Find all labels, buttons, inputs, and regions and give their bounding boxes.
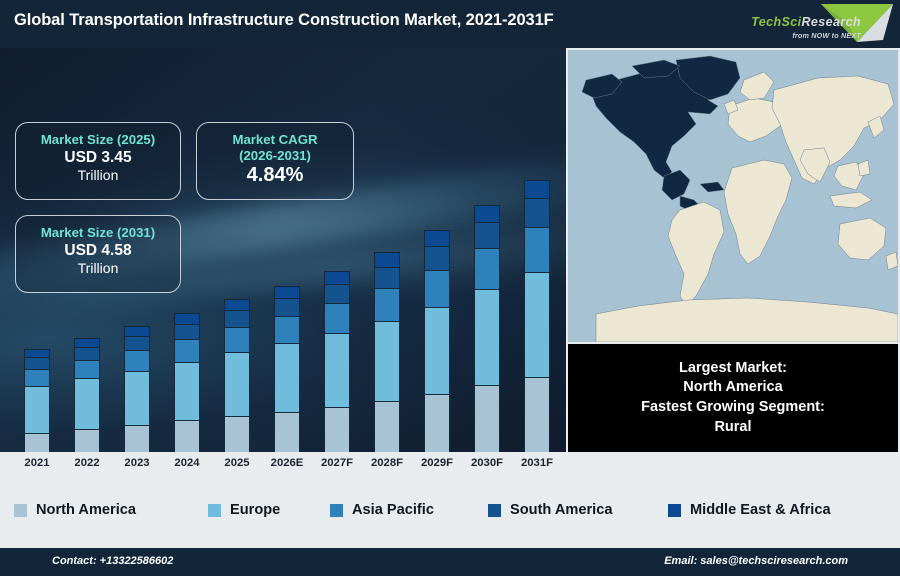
- stat-unit: Trillion: [16, 260, 180, 278]
- bar-segment-north-america: [374, 401, 400, 452]
- bar-column-2028f: [362, 96, 412, 452]
- bar-segment-south-america: [74, 347, 100, 360]
- logo-brand-primary: TechSci: [751, 15, 801, 29]
- logo-tagline: from NOW to NEXT: [751, 32, 861, 39]
- stacked-bar: [74, 338, 100, 452]
- legend-item-asia-pacific[interactable]: Asia Pacific: [330, 502, 434, 518]
- axis-label-2023: 2023: [112, 457, 162, 469]
- stat-label-line2: (2026-2031): [197, 148, 353, 164]
- chart-x-axis: 202120222023202420252026E2027F2028F2029F…: [0, 452, 566, 480]
- largest-market-value: North America: [683, 378, 782, 398]
- fastest-segment-value: Rural: [714, 418, 751, 438]
- stat-unit: Trillion: [16, 167, 180, 185]
- bar-segment-asia-pacific: [424, 270, 450, 307]
- bar-column-2031f: [512, 96, 562, 452]
- bar-segment-south-america: [124, 336, 150, 350]
- stat-label: Market Size (2025): [16, 132, 180, 148]
- logo-wordmark: TechSciResearch from NOW to NEXT: [751, 14, 861, 39]
- bar-column-2029f: [412, 96, 462, 452]
- axis-label-2022: 2022: [62, 457, 112, 469]
- stat-card-market-size-2025: Market Size (2025) USD 3.45 Trillion: [15, 122, 181, 200]
- stacked-bar: [124, 326, 150, 452]
- bar-segment-south-america: [224, 310, 250, 327]
- stat-card-market-size-2031: Market Size (2031) USD 4.58 Trillion: [15, 215, 181, 293]
- legend-item-europe[interactable]: Europe: [208, 502, 280, 518]
- bar-segment-asia-pacific: [24, 369, 50, 386]
- bar-segment-south-america: [524, 198, 550, 227]
- bar-segment-europe: [474, 289, 500, 385]
- bar-segment-asia-pacific: [274, 316, 300, 343]
- bar-segment-asia-pacific: [524, 227, 550, 272]
- header-bar: Global Transportation Infrastructure Con…: [0, 0, 900, 48]
- bar-segment-middle-east-africa: [324, 271, 350, 284]
- axis-label-2021: 2021: [12, 457, 62, 469]
- bar-segment-south-america: [324, 284, 350, 304]
- bar-segment-europe: [224, 352, 250, 415]
- bar-segment-europe: [274, 343, 300, 411]
- bar-segment-europe: [374, 321, 400, 401]
- chart-legend: North AmericaEuropeAsia PacificSouth Ame…: [0, 480, 900, 546]
- bar-segment-south-america: [474, 222, 500, 249]
- legend-swatch: [668, 504, 681, 517]
- stacked-bar: [524, 180, 550, 452]
- stat-value: USD 3.45: [16, 148, 180, 168]
- bar-segment-europe: [124, 371, 150, 425]
- stat-label: Market Size (2031): [16, 225, 180, 241]
- legend-label: Middle East & Africa: [690, 502, 831, 518]
- axis-label-2025: 2025: [212, 457, 262, 469]
- legend-item-south-america[interactable]: South America: [488, 502, 612, 518]
- bar-segment-south-america: [174, 324, 200, 340]
- bar-segment-asia-pacific: [474, 248, 500, 289]
- bar-segment-europe: [74, 378, 100, 429]
- footer-bar: Contact: +13322586602 Email: sales@techs…: [0, 548, 900, 576]
- stacked-bar: [424, 230, 450, 452]
- stacked-bar: [374, 252, 400, 452]
- legend-swatch: [330, 504, 343, 517]
- stacked-bar: [274, 286, 300, 452]
- bar-segment-asia-pacific: [174, 339, 200, 361]
- bar-segment-europe: [174, 362, 200, 421]
- bar-segment-north-america: [174, 420, 200, 452]
- bar-segment-asia-pacific: [74, 360, 100, 378]
- bar-segment-middle-east-africa: [174, 313, 200, 323]
- chart-panel: Market Size (2025) USD 3.45 Trillion Mar…: [0, 48, 566, 452]
- bar-segment-north-america: [24, 433, 50, 452]
- bar-segment-north-america: [474, 385, 500, 452]
- bar-segment-middle-east-africa: [474, 205, 500, 222]
- legend-swatch: [208, 504, 221, 517]
- bar-segment-south-america: [24, 357, 50, 369]
- largest-market-label: Largest Market:: [679, 359, 787, 379]
- legend-label: South America: [510, 502, 612, 518]
- techsci-logo: TechSciResearch from NOW to NEXT: [715, 1, 897, 45]
- bar-segment-europe: [24, 386, 50, 434]
- infographic-page: Global Transportation Infrastructure Con…: [0, 0, 900, 576]
- bar-segment-asia-pacific: [324, 303, 350, 333]
- stat-value: USD 4.58: [16, 241, 180, 261]
- bar-segment-middle-east-africa: [424, 230, 450, 246]
- bar-segment-middle-east-africa: [524, 180, 550, 198]
- legend-swatch: [488, 504, 501, 517]
- email-text: Email: sales@techsciresearch.com: [664, 555, 848, 567]
- bar-segment-south-america: [374, 267, 400, 289]
- bar-segment-north-america: [74, 429, 100, 452]
- contact-text: Contact: +13322586602: [52, 555, 173, 567]
- legend-swatch: [14, 504, 27, 517]
- bar-segment-middle-east-africa: [24, 349, 50, 357]
- legend-item-north-america[interactable]: North America: [14, 502, 136, 518]
- bar-segment-asia-pacific: [374, 288, 400, 321]
- stacked-bar: [324, 271, 350, 452]
- key-insights-box: Largest Market: North America Fastest Gr…: [568, 344, 898, 452]
- axis-label-2024: 2024: [162, 457, 212, 469]
- legend-item-middle-east-africa[interactable]: Middle East & Africa: [668, 502, 831, 518]
- logo-brand-secondary: Research: [802, 15, 862, 29]
- bar-segment-north-america: [224, 416, 250, 452]
- legend-label: North America: [36, 502, 136, 518]
- axis-label-2026e: 2026E: [262, 457, 312, 469]
- legend-label: Asia Pacific: [352, 502, 434, 518]
- stacked-bar: [474, 205, 500, 452]
- world-map-svg: [568, 50, 898, 342]
- bar-segment-middle-east-africa: [74, 338, 100, 347]
- stat-value: 4.84%: [197, 163, 353, 187]
- stat-card-market-cagr: Market CAGR (2026-2031) 4.84%: [196, 122, 354, 200]
- axis-label-2027f: 2027F: [312, 457, 362, 469]
- bar-segment-north-america: [274, 412, 300, 453]
- axis-label-2028f: 2028F: [362, 457, 412, 469]
- bar-segment-europe: [424, 307, 450, 394]
- bar-segment-north-america: [324, 407, 350, 452]
- bar-segment-south-america: [424, 246, 450, 270]
- bar-segment-north-america: [524, 377, 550, 452]
- bar-segment-asia-pacific: [224, 327, 250, 352]
- bar-segment-south-america: [274, 298, 300, 316]
- legend-label: Europe: [230, 502, 280, 518]
- bar-segment-north-america: [424, 394, 450, 452]
- stat-label-line1: Market CAGR: [197, 132, 353, 148]
- bar-segment-north-america: [124, 425, 150, 452]
- page-title: Global Transportation Infrastructure Con…: [14, 11, 554, 30]
- bar-segment-europe: [524, 272, 550, 378]
- bar-segment-middle-east-africa: [274, 286, 300, 298]
- bar-column-2030f: [462, 96, 512, 452]
- stacked-bar: [174, 313, 200, 452]
- world-map: [568, 50, 898, 342]
- bar-segment-asia-pacific: [124, 350, 150, 370]
- axis-label-2031f: 2031F: [512, 457, 562, 469]
- axis-label-2030f: 2030F: [462, 457, 512, 469]
- stacked-bar: [24, 349, 50, 452]
- bar-segment-middle-east-africa: [224, 299, 250, 310]
- bar-segment-middle-east-africa: [374, 252, 400, 266]
- axis-label-2029f: 2029F: [412, 457, 462, 469]
- bar-segment-middle-east-africa: [124, 326, 150, 336]
- bar-segment-europe: [324, 333, 350, 407]
- stacked-bar: [224, 299, 250, 452]
- fastest-segment-label: Fastest Growing Segment:: [641, 398, 825, 418]
